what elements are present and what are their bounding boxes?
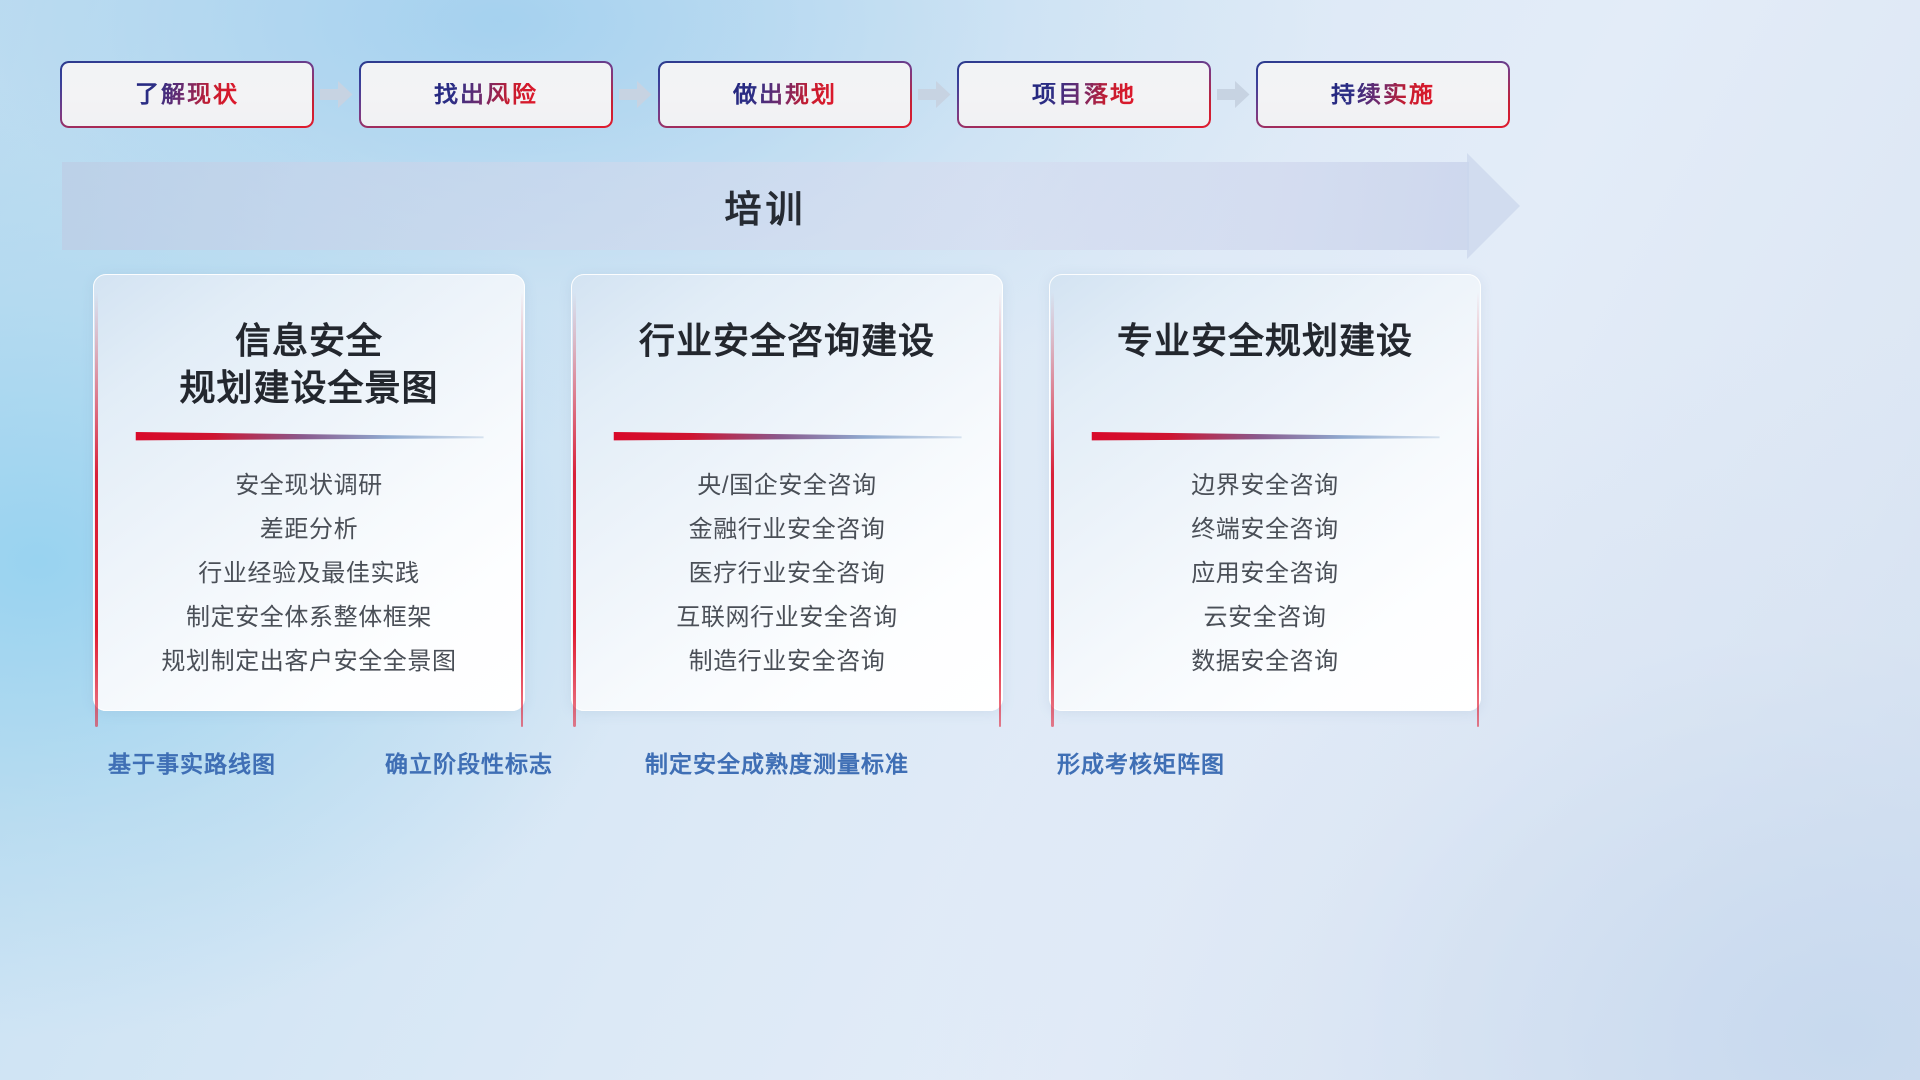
process-step-label: 找出风险 — [434, 83, 538, 107]
right-arrow-icon — [1209, 63, 1258, 126]
card-item-list: 安全现状调研差距分析行业经验及最佳实践制定安全体系整体框架规划制定出客户安全全景… — [119, 464, 499, 684]
card-divider-icon — [612, 428, 962, 442]
card-item-list: 边界安全咨询终端安全咨询应用安全咨询云安全咨询数据安全咨询 — [1075, 464, 1455, 684]
card-accent-left — [573, 292, 576, 727]
bottom-label-3: 制定安全成熟度测量标准 — [645, 745, 909, 779]
bottom-label-row: 基于事实路线图确立阶段性标志制定安全成熟度测量标准形成考核矩阵图 — [80, 745, 1460, 789]
card-accent-right — [999, 292, 1002, 727]
list-item: 终端安全咨询 — [1075, 508, 1455, 552]
process-step-label: 了解现状 — [135, 83, 239, 107]
card-item-list: 央/国企安全咨询金融行业安全咨询医疗行业安全咨询互联网行业安全咨询制造行业安全咨… — [597, 464, 977, 684]
service-card-1[interactable]: 信息安全 规划建设全景图安全现状调研差距分析行业经验及最佳实践制定安全体系整体框… — [93, 274, 525, 711]
process-step-1[interactable]: 了解现状 — [62, 63, 312, 126]
list-item: 差距分析 — [119, 508, 499, 552]
list-item: 安全现状调研 — [119, 464, 499, 508]
process-step-4[interactable]: 项目落地 — [959, 63, 1209, 126]
process-step-label: 做出规划 — [733, 83, 837, 107]
card-accent-left — [1051, 292, 1054, 727]
service-card-group: 信息安全 规划建设全景图安全现状调研差距分析行业经验及最佳实践制定安全体系整体框… — [93, 274, 1481, 711]
list-item: 金融行业安全咨询 — [597, 508, 977, 552]
training-banner-arrow-tip-icon — [1467, 153, 1520, 259]
process-step-label: 项目落地 — [1032, 83, 1136, 107]
card-title: 信息安全 规划建设全景图 — [119, 318, 499, 412]
list-item: 规划制定出客户安全全景图 — [119, 640, 499, 684]
list-item: 互联网行业安全咨询 — [597, 596, 977, 640]
card-accent-right — [521, 292, 524, 727]
card-divider-icon — [1090, 428, 1440, 442]
list-item: 应用安全咨询 — [1075, 552, 1455, 596]
service-card-2[interactable]: 行业安全咨询建设央/国企安全咨询金融行业安全咨询医疗行业安全咨询互联网行业安全咨… — [571, 274, 1003, 711]
list-item: 医疗行业安全咨询 — [597, 552, 977, 596]
list-item: 云安全咨询 — [1075, 596, 1455, 640]
service-card-3[interactable]: 专业安全规划建设边界安全咨询终端安全咨询应用安全咨询云安全咨询数据安全咨询 — [1049, 274, 1481, 711]
process-step-label: 持续实施 — [1331, 83, 1435, 107]
process-step-3[interactable]: 做出规划 — [660, 63, 910, 126]
right-arrow-icon — [312, 63, 361, 126]
list-item: 数据安全咨询 — [1075, 640, 1455, 684]
card-title: 行业安全咨询建设 — [597, 318, 977, 412]
card-accent-right — [1477, 292, 1480, 727]
card-title: 专业安全规划建设 — [1075, 318, 1455, 412]
list-item: 边界安全咨询 — [1075, 464, 1455, 508]
right-arrow-icon — [611, 63, 660, 126]
process-step-row: 了解现状找出风险做出规划项目落地持续实施 — [62, 63, 1510, 126]
bottom-label-2: 确立阶段性标志 — [385, 745, 553, 779]
list-item: 央/国企安全咨询 — [597, 464, 977, 508]
card-divider-icon — [134, 428, 484, 442]
process-step-5[interactable]: 持续实施 — [1258, 63, 1508, 126]
bottom-label-4: 形成考核矩阵图 — [1057, 745, 1225, 779]
list-item: 制造行业安全咨询 — [597, 640, 977, 684]
process-step-2[interactable]: 找出风险 — [361, 63, 611, 126]
training-banner: 培训 — [62, 162, 1520, 250]
bottom-label-1: 基于事实路线图 — [108, 745, 276, 779]
training-banner-title: 培训 — [62, 162, 1469, 250]
list-item: 行业经验及最佳实践 — [119, 552, 499, 596]
list-item: 制定安全体系整体框架 — [119, 596, 499, 640]
card-accent-left — [95, 292, 98, 727]
right-arrow-icon — [910, 63, 959, 126]
